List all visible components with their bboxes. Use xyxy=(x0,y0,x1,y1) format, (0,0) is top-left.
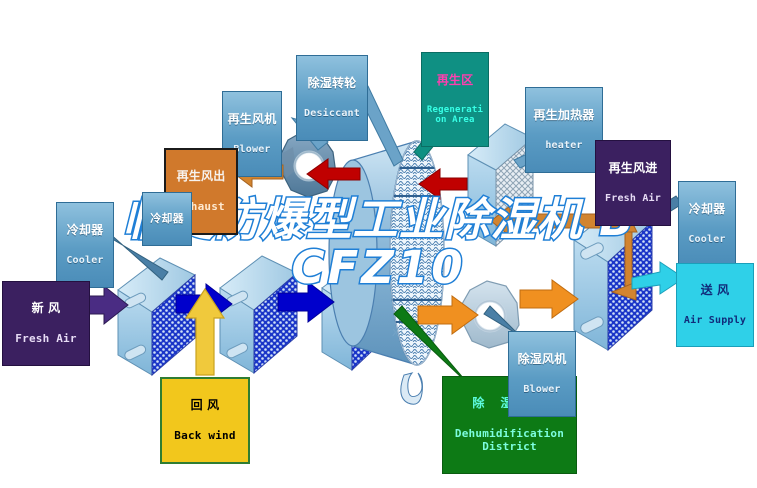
label-cooler-left: 冷却器 Cooler xyxy=(56,202,114,288)
label-back-wind: 回 风 Back wind xyxy=(160,377,250,464)
label-dehum-blower-en: Blower xyxy=(511,384,573,395)
cooler-block-2 xyxy=(220,256,297,373)
label-fresh-air-in: 新 风 Fresh Air xyxy=(2,281,90,366)
svg-text:XT: XT xyxy=(392,328,406,339)
label-air-supply-cn: 送 风 xyxy=(679,284,751,297)
label-dehum-district-en: Dehumidification District xyxy=(445,428,574,453)
label-cooler-mid: 冷却器 xyxy=(142,192,192,246)
label-desiccant-rotor-en: Desiccant xyxy=(299,108,365,119)
label-regeneration-heater-cn: 再生加热器 xyxy=(528,109,600,122)
label-regeneration-area-en: Regenerati on Area xyxy=(424,105,486,125)
diagram-canvas: XT xyxy=(0,0,757,488)
label-cooler-right: 冷却器 Cooler xyxy=(678,181,736,267)
arrow-blower-to-cooler xyxy=(520,280,578,318)
label-regeneration-blower-cn: 再生风机 xyxy=(225,113,279,126)
label-regeneration-area: 再生区 Regenerati on Area xyxy=(421,52,489,147)
label-regeneration-area-cn: 再生区 xyxy=(424,74,486,87)
label-desiccant-rotor: 除湿转轮 Desiccant xyxy=(296,55,368,141)
label-back-wind-en: Back wind xyxy=(164,430,246,442)
label-cooler-right-cn: 冷却器 xyxy=(681,203,733,216)
label-desiccant-rotor-cn: 除湿转轮 xyxy=(299,77,365,90)
label-regen-fresh-air-en: Fresh Air xyxy=(598,193,668,204)
label-regen-fresh-air-cn: 再生风进 xyxy=(598,162,668,175)
label-air-supply: 送 风 Air Supply xyxy=(676,263,754,347)
label-cooler-mid-cn: 冷却器 xyxy=(145,213,189,225)
label-fresh-air-in-en: Fresh Air xyxy=(5,333,87,345)
label-cooler-left-en: Cooler xyxy=(59,255,111,266)
label-regeneration-fresh-air-in: 再生风进 Fresh Air xyxy=(595,140,671,226)
label-back-wind-cn: 回 风 xyxy=(164,399,246,412)
label-cooler-right-en: Cooler xyxy=(681,234,733,245)
label-cooler-left-cn: 冷却器 xyxy=(59,224,111,237)
label-dehumidification-blower: 除湿风机 Blower xyxy=(508,331,576,417)
label-dehum-blower-cn: 除湿风机 xyxy=(511,353,573,366)
label-air-supply-en: Air Supply xyxy=(679,315,751,326)
label-regeneration-exhaust-cn: 再生风出 xyxy=(168,170,234,183)
label-regeneration-heater-en: heater xyxy=(528,140,600,151)
label-fresh-air-in-cn: 新 风 xyxy=(5,302,87,315)
label-regeneration-heater: 再生加热器 heater xyxy=(525,87,603,173)
